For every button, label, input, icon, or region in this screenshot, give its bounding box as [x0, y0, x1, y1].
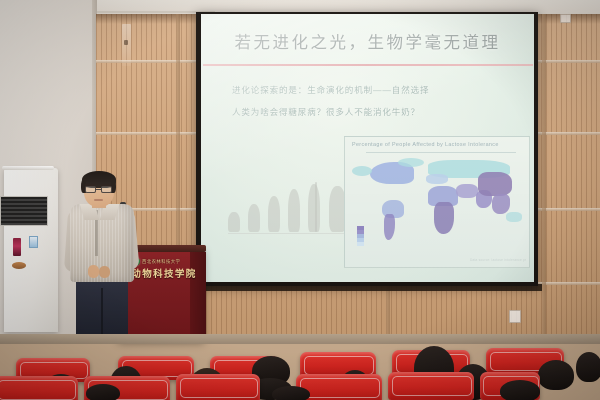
seat[interactable] [388, 372, 474, 400]
region-east-asia [478, 172, 512, 196]
region-europe [426, 174, 448, 184]
map-legend [357, 226, 364, 246]
slide-bullet-1: 进化论探索的是：生命演化的机制——自然选择 [232, 84, 429, 96]
evolution-baseline [228, 233, 352, 235]
wall-panel-upper [122, 24, 131, 66]
air-conditioner-grille [0, 196, 48, 226]
slat-panel-seam [542, 14, 546, 340]
region-alaska [352, 166, 372, 176]
seat[interactable] [0, 376, 78, 400]
region-greenland [398, 158, 424, 167]
region-middle-east [456, 184, 478, 198]
eyeglasses-icon [84, 186, 114, 193]
evolution-silhouettes [226, 176, 354, 238]
energy-rating-sticker [13, 238, 21, 256]
evolution-figure-4 [288, 189, 300, 232]
glasses-bridge [96, 189, 101, 190]
seat[interactable] [176, 374, 260, 400]
audience-head [86, 384, 120, 400]
speaker [62, 170, 144, 340]
wall-switch-plate[interactable] [560, 14, 571, 23]
evolution-figure-5 [308, 184, 320, 232]
podium-university-name: 西北农林科技大学 [142, 257, 200, 266]
region-andes [384, 214, 395, 240]
wall-switch-plate[interactable] [124, 40, 128, 45]
speaker-hand-right [99, 266, 110, 278]
wall-switch-plate[interactable] [509, 310, 521, 323]
evolution-spear [315, 182, 317, 232]
map-title: Percentage of People Affected by Lactose… [352, 142, 528, 148]
slide-bullet-2: 人类为啥会得糖尿病？很多人不能消化牛奶？ [232, 106, 420, 118]
lecture-hall-screenshot: 若无进化之光，生物学毫无道理 进化论探索的是：生命演化的机制——自然选择 人类为… [0, 0, 600, 400]
evolution-figure-1 [228, 212, 240, 232]
audience-head [500, 380, 540, 400]
map-source-caption: Data source: lactose intolerance prevale… [470, 258, 526, 263]
slat-panel-seam [386, 286, 390, 340]
region-sub-saharan-africa [434, 202, 454, 234]
speaker-leg-seam [101, 288, 103, 340]
audience-head [576, 352, 600, 382]
legend-swatch-5 [357, 242, 364, 246]
world-map [350, 156, 526, 260]
evolution-figure-3 [268, 196, 280, 232]
region-oceania [506, 212, 522, 222]
blue-info-label [29, 236, 38, 248]
speaker-mouth [94, 199, 103, 201]
air-conditioner-top [2, 166, 54, 170]
audience-head [272, 386, 310, 400]
floor-strip [0, 334, 600, 344]
map-title-rule [366, 152, 516, 153]
audience-head [538, 360, 574, 390]
evolution-figure-2 [248, 204, 260, 232]
region-southeast-asia [492, 194, 510, 214]
slide-title: 若无进化之光，生物学毫无道理 [201, 22, 534, 60]
slide-title-rule [203, 64, 533, 66]
lens-right [101, 186, 112, 193]
speaker-hand-left [88, 265, 99, 278]
brand-badge [12, 262, 26, 269]
lens-left [85, 186, 96, 193]
